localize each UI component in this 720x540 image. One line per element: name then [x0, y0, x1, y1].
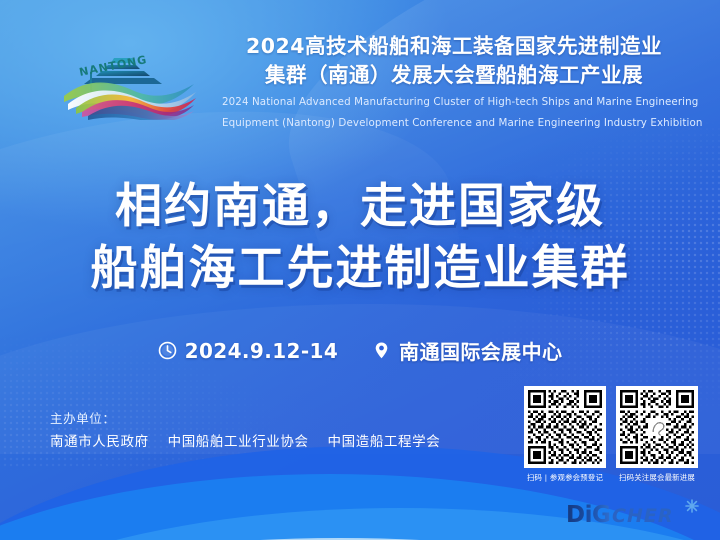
event-poster: NANTONG 2024高技术船舶和海工装备国家先进制造业 集群（南通）发展大会…: [0, 0, 720, 540]
conference-title-cn-line2: 集群（南通）发展大会暨船舶海工产业展: [222, 61, 686, 90]
qr-code-icon[interactable]: [616, 386, 698, 468]
organizer-name-1: 南通市人民政府: [50, 434, 149, 450]
clock-icon: [158, 341, 177, 360]
qr-block-followup[interactable]: 扫码关注展会最新进展: [616, 386, 698, 484]
conference-title-cn-line1: 2024高技术船舶和海工装备国家先进制造业: [222, 32, 686, 61]
organizer-names: 南通市人民政府 中国船舶工业行业协会 中国造船工程学会: [50, 430, 454, 454]
sparkle-icon: [686, 500, 698, 512]
qr-caption-followup: 扫码关注展会最新进展: [616, 472, 698, 484]
qr-code-icon[interactable]: [524, 386, 606, 468]
organizer-label: 主办单位：: [50, 408, 454, 430]
watermark-digcher: DiG CHER: [562, 494, 712, 534]
event-meta-row: 2024.9.12-14 南通国际会展中心: [0, 336, 720, 365]
conference-title-en-line2: Equipment (Nantong) Development Conferen…: [222, 116, 686, 132]
event-venue-text: 南通国际会展中心: [399, 336, 562, 365]
event-date: 2024.9.12-14: [158, 339, 339, 363]
headline-line-1: 相约南通，走进国家级: [0, 176, 720, 238]
svg-text:CHER: CHER: [612, 505, 673, 527]
main-headline: 相约南通，走进国家级 船舶海工先进制造业集群: [0, 176, 720, 300]
location-pin-icon: [372, 341, 391, 360]
event-venue: 南通国际会展中心: [372, 336, 562, 365]
organizer-name-2: 中国船舶工业行业协会: [168, 434, 309, 450]
organizer-name-3: 中国造船工程学会: [328, 434, 441, 450]
qr-block-registration[interactable]: 扫码 | 参观参会预登记: [524, 386, 606, 484]
nantong-ship-wave-logo-icon: NANTONG: [62, 34, 198, 120]
organizer-block: 主办单位： 南通市人民政府 中国船舶工业行业协会 中国造船工程学会: [50, 408, 454, 454]
qr-code-area: 扫码 | 参观参会预登记: [524, 386, 698, 484]
qr-caption-registration: 扫码 | 参观参会预登记: [524, 472, 606, 484]
event-date-text: 2024.9.12-14: [185, 339, 339, 363]
headline-line-2: 船舶海工先进制造业集群: [0, 238, 720, 300]
header-title-group: 2024高技术船舶和海工装备国家先进制造业 集群（南通）发展大会暨船舶海工产业展…: [222, 32, 686, 131]
watermark-text: DiG: [566, 502, 610, 528]
conference-title-en-line1: 2024 National Advanced Manufacturing Clu…: [222, 95, 686, 111]
